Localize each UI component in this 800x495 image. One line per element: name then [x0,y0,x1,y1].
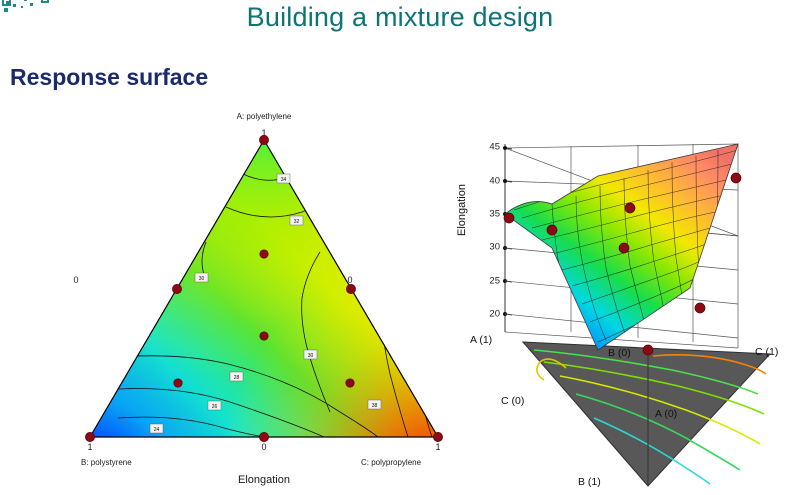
surface-3d-svg [448,118,800,490]
ternary-surface-svg: 34 32 30 30 28 26 24 38 [78,112,450,482]
z-tick-20: 20 [489,309,500,320]
ternary-left-corner-label: B: polystyrene [81,458,132,467]
response-surface-3d-plot: Elongation 45 40 35 30 25 20 [448,118,800,490]
section-heading: Response surface [10,64,208,91]
svg-text:28: 28 [234,375,240,381]
surface-z-axis-title: Elongation [456,184,468,236]
ternary-right-corner-label: C: polypropylene [361,458,421,467]
ternary-axis-caption: Elongation [238,474,290,486]
svg-text:24: 24 [154,427,160,433]
z-tick-35: 35 [489,209,500,220]
svg-text:30: 30 [199,276,205,282]
z-tick-40: 40 [489,176,500,187]
ternary-bottom-mid-value: 0 [261,442,266,452]
z-tick-30: 30 [489,242,500,253]
ternary-right-corner-value: 1 [435,442,440,452]
ternary-left-corner-value: 1 [87,442,92,452]
surface-corner-label-c0: C (0) [501,395,524,407]
svg-text:34: 34 [281,177,287,183]
surface-corner-label-a0: A (0) [655,408,677,420]
z-tick-45: 45 [489,142,500,153]
ternary-contour-plot: A: polyethylene 1 [78,112,450,482]
surface-corner-label-a1: A (1) [470,334,492,346]
page-title: Building a mixture design [0,2,800,33]
ternary-left-side-value: 0 [73,275,78,285]
surface-corner-label-c1: C (1) [755,346,778,358]
svg-text:32: 32 [294,219,300,225]
svg-text:38: 38 [372,403,378,409]
svg-text:30: 30 [308,353,314,359]
surface-corner-label-b0: B (0) [608,347,631,359]
svg-text:26: 26 [212,404,218,410]
z-tick-25: 25 [489,276,500,287]
surface-corner-label-b1: B (1) [578,476,601,488]
ternary-right-side-value: 0 [347,275,352,285]
slide: Building a mixture design Response surfa… [0,0,800,495]
